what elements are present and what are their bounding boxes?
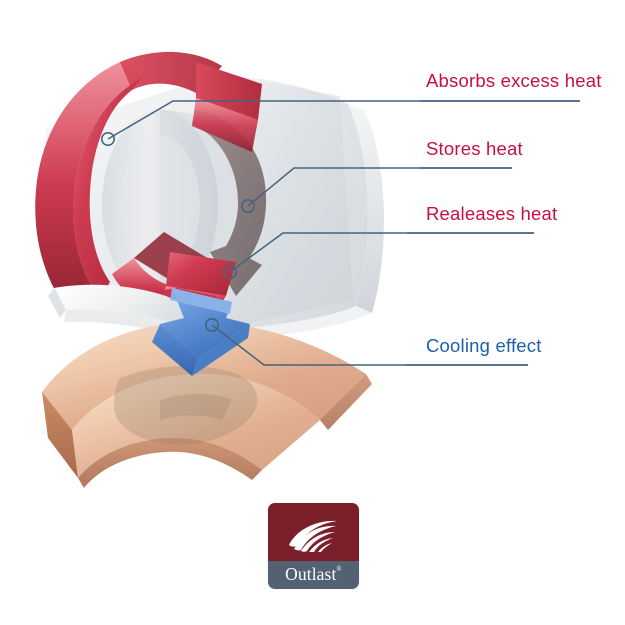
logo-top-panel: [268, 503, 359, 561]
swoosh-mark-icon: [287, 519, 341, 552]
logo-trademark-symbol: ®: [336, 565, 341, 573]
callout-label-cooling-effect: Cooling effect: [426, 337, 542, 356]
logo-bottom-panel: Outlast®: [268, 561, 359, 589]
diagram-canvas: Absorbs excess heat Stores heat Realease…: [0, 0, 625, 625]
logo-wordmark: Outlast®: [285, 564, 342, 585]
logo-brand-text: Outlast: [285, 564, 336, 584]
callout-label-releases-heat: Realeases heat: [426, 205, 557, 224]
callout-label-stores-heat: Stores heat: [426, 140, 523, 159]
callout-label-absorbs-excess-heat: Absorbs excess heat: [426, 72, 602, 91]
outlast-logo: Outlast®: [268, 503, 359, 589]
